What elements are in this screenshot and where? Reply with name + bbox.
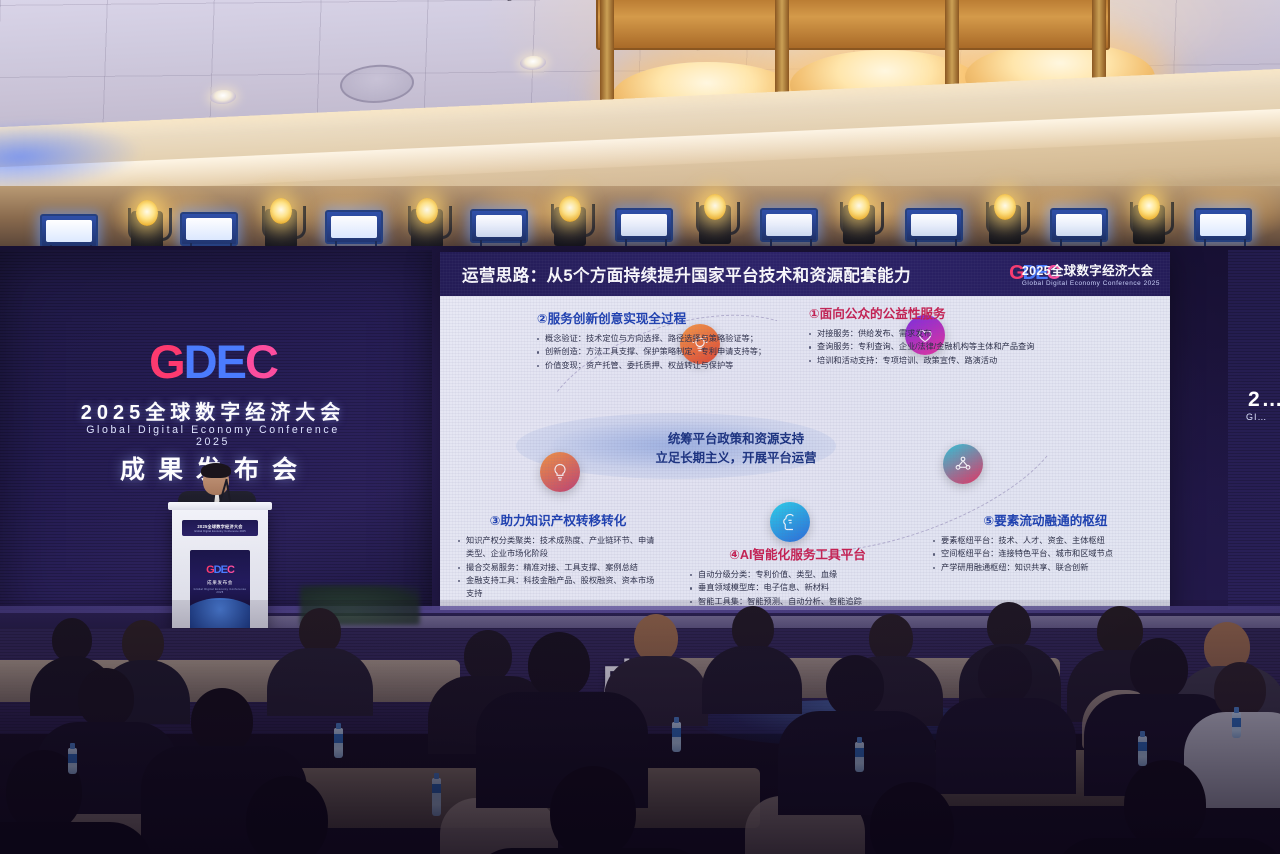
banner-title-en: Global Digital Economy Conference 2025 — [78, 424, 348, 448]
list-item: 空间枢纽平台：连接特色平台、城市和区域节点 — [933, 547, 1158, 560]
block-3-list: 知识产权分类聚类：技术成熟度、产业链环节、申请类型、企业市场化阶段 撮合交易服务… — [458, 534, 658, 600]
list-item: 培训和活动支持：专项培训、政策宣传、路演活动 — [809, 354, 1034, 367]
list-item: 要素枢纽平台：技术、人才、资金、主体枢纽 — [933, 534, 1158, 547]
water-bottle — [334, 728, 343, 758]
speaker-hair — [201, 463, 231, 478]
right-banner-title-fragment: 2… — [1248, 388, 1280, 412]
logo-letter-d: D — [184, 334, 216, 389]
center-statement-line1: 统筹平台政策和资源支持 — [630, 430, 842, 449]
block-4-heading: ④AI智能化服务工具平台 — [690, 544, 905, 563]
moving-head-light — [986, 192, 1024, 244]
slide-logo-title-en: Global Digital Economy Conference 2025 — [1022, 280, 1160, 287]
podium-plaque-en: Global Digital Economy Conference 2025 — [194, 530, 245, 533]
podium-screen-title-en: Global Digital Economy Conference 2025 — [190, 588, 250, 594]
block-5-list: 要素枢纽平台：技术、人才、资金、主体枢纽 空间枢纽平台：连接特色平台、城市和区域… — [933, 534, 1158, 574]
idea-bulb-icon — [540, 452, 580, 492]
audience-area — [0, 600, 1280, 854]
right-banner-subtitle-fragment: Gl… — [1246, 412, 1268, 422]
list-item: 查询服务：专利查询、企业/法律/金融机构等主体和产品查询 — [809, 340, 1034, 353]
moving-head-light — [551, 194, 589, 246]
right-led-banner — [1228, 250, 1280, 640]
water-bottle — [672, 722, 681, 752]
water-bottle — [855, 742, 864, 772]
list-item: 自动分级分类：专利价值、类型、血缘 — [690, 568, 905, 581]
presentation-slide: 运营思路：从5个方面持续提升国家平台技术和资源配套能力 GDEC 2025全球数… — [440, 252, 1170, 624]
list-item: 概念验证：技术定位与方向选择、路径选择与策略验证等； — [537, 332, 766, 345]
chandelier-frame-top — [596, 0, 1110, 50]
logo-letter-c: C — [245, 334, 277, 389]
network-nodes-icon — [943, 444, 983, 484]
water-bottle — [68, 748, 77, 774]
center-statement-line2: 立足长期主义，开展平台运营 — [630, 449, 842, 468]
moving-head-light — [262, 196, 300, 248]
list-item: 价值变现：资产托管、委托质押、权益转让与保护等 — [537, 359, 766, 372]
ai-brain-icon — [770, 502, 810, 542]
water-bottle — [1138, 736, 1147, 766]
moving-head-light — [1130, 192, 1168, 244]
logo-letter-g: G — [149, 334, 184, 389]
water-bottle — [432, 778, 441, 816]
list-item: 对接服务：供给发布、需求发布 — [809, 327, 1034, 340]
slide-logo-title-cn: 2025全球数字经济大会 — [1022, 260, 1160, 279]
slide-block-3: ③助力知识产权转移转化 知识产权分类聚类：技术成熟度、产业链环节、申请类型、企业… — [458, 510, 658, 600]
block-2-heading: ②服务创新创意实现全过程 — [537, 308, 766, 327]
conference-hall-photo: GDEC 2025全球数字经济大会 Global Digital Economy… — [0, 0, 1280, 854]
cove-blue-light — [0, 117, 140, 194]
list-item: 垂直领域模型库：电子信息、新材料 — [690, 581, 905, 594]
slide-block-1: ①面向公众的公益性服务 对接服务：供给发布、需求发布 查询服务：专利查询、企业/… — [809, 303, 1034, 367]
block-2-list: 概念验证：技术定位与方向选择、路径选择与策略验证等； 创新创造：方法工具支撑、保… — [537, 332, 766, 372]
moving-head-light — [408, 196, 446, 248]
center-statement: 统筹平台政策和资源支持 立足长期主义，开展平台运营 — [630, 430, 842, 467]
block-1-heading: ①面向公众的公益性服务 — [809, 303, 1034, 322]
moving-head-light — [840, 192, 878, 244]
list-item: 创新创造：方法工具支撑、保护策略制定、专利申请支持等； — [537, 345, 766, 358]
slide-header-bar: 运营思路：从5个方面持续提升国家平台技术和资源配套能力 GDEC 2025全球数… — [440, 252, 1170, 296]
podium-plaque: 2025全球数字经济大会 Global Digital Economy Conf… — [182, 520, 258, 536]
logo-letter-e: E — [216, 334, 245, 389]
slide-header-logo-text: 2025全球数字经济大会 Global Digital Economy Conf… — [1022, 260, 1160, 287]
podium-screen-logo: GDEC — [190, 564, 250, 576]
slide-title: 运营思路：从5个方面持续提升国家平台技术和资源配套能力 — [462, 262, 911, 286]
list-item: 金融支持工具：科技金融产品、股权融资、资本市场支持 — [458, 574, 658, 601]
block-1-list: 对接服务：供给发布、需求发布 查询服务：专利查询、企业/法律/金融机构等主体和产… — [809, 327, 1034, 367]
block-5-heading: ⑤要素流动融通的枢纽 — [933, 510, 1158, 529]
list-item: 产学研用融通枢纽：知识共享、联合创新 — [933, 561, 1158, 574]
moving-head-light — [696, 192, 734, 244]
podium-screen-title-cn: 成果发布会 — [190, 580, 250, 586]
block-3-heading: ③助力知识产权转移转化 — [458, 510, 658, 529]
water-bottle — [1232, 712, 1241, 738]
podium-top — [168, 502, 272, 510]
slide-block-4: ④AI智能化服务工具平台 自动分级分类：专利价值、类型、血缘 垂直领域模型库：电… — [690, 544, 905, 608]
list-item: 知识产权分类聚类：技术成熟度、产业链环节、申请类型、企业市场化阶段 — [458, 534, 658, 561]
slide-block-5: ⑤要素流动融通的枢纽 要素枢纽平台：技术、人才、资金、主体枢纽 空间枢纽平台：连… — [933, 510, 1158, 574]
moving-head-light — [128, 198, 166, 250]
banner-title-cn: 2025全球数字经济大会 — [78, 396, 348, 425]
list-item: 撮合交易服务：精准对接、工具支撑、案例总结 — [458, 561, 658, 574]
slide-block-2: ②服务创新创意实现全过程 概念验证：技术定位与方向选择、路径选择与策略验证等； … — [537, 308, 766, 372]
gdec-logo: GDEC — [143, 335, 283, 387]
